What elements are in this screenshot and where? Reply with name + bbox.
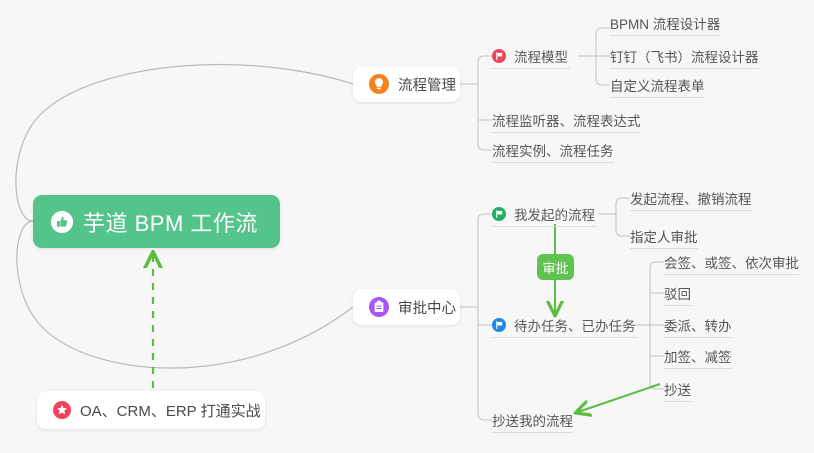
root-label: 芋道 BPM 工作流 xyxy=(83,206,258,238)
leaf-label-listener-expression: 流程监听器、流程表达式 xyxy=(492,110,641,130)
branch-node-liucheng-guanli[interactable]: 流程管理 xyxy=(353,66,460,102)
flag-icon xyxy=(492,49,506,63)
leaf-weipai-zhuanban[interactable]: 委派、转办 xyxy=(664,312,732,338)
leaf-bohui[interactable]: 驳回 xyxy=(664,280,691,306)
leaf-instance-task[interactable]: 流程实例、流程任务 xyxy=(492,137,614,163)
leaf-bpmn-designer[interactable]: BPMN 流程设计器 xyxy=(610,10,720,36)
footer-card-label: OA、CRM、ERP 打通实战 xyxy=(80,400,261,421)
clipboard-icon xyxy=(369,297,389,317)
lightbulb-icon xyxy=(369,74,389,94)
leaf-chaosong[interactable]: 抄送 xyxy=(664,376,691,402)
leaf-label-instance-task: 流程实例、流程任务 xyxy=(492,140,614,160)
leaf-custom-form[interactable]: 自定义流程表单 xyxy=(610,72,705,98)
leaf-zhiding-ren-shenpi[interactable]: 指定人审批 xyxy=(630,223,698,249)
leaf-label-faqi-chexiao: 发起流程、撤销流程 xyxy=(630,188,752,208)
leaf-label-huiqian-huoqian: 会签、或签、依次审批 xyxy=(664,252,799,272)
node-wo-faqi-de-liucheng[interactable]: 我发起的流程 xyxy=(492,201,597,227)
flag-icon xyxy=(492,207,506,221)
leaf-label-custom-form: 自定义流程表单 xyxy=(610,75,705,95)
footer-card-oa-crm-erp[interactable]: OA、CRM、ERP 打通实战 xyxy=(37,391,265,429)
flag-icon xyxy=(492,318,506,332)
leaf-label-dingtalk-designer: 钉钉（飞书）流程设计器 xyxy=(610,46,759,66)
leaf-label-chaosong-wo-de-liucheng: 抄送我的流程 xyxy=(492,410,573,430)
leaf-dingtalk-designer[interactable]: 钉钉（飞书）流程设计器 xyxy=(610,43,759,69)
node-label-wo-faqi-de-liucheng: 我发起的流程 xyxy=(514,204,595,224)
leaf-jiaqian-jianqian[interactable]: 加签、减签 xyxy=(664,343,732,369)
root-node[interactable]: 芋道 BPM 工作流 xyxy=(33,195,280,248)
node-liucheng-moxing[interactable]: 流程模型 xyxy=(492,43,570,69)
leaf-huiqian-huoqian[interactable]: 会签、或签、依次审批 xyxy=(664,249,799,275)
branch-label-liucheng-guanli: 流程管理 xyxy=(398,74,456,95)
node-label-liucheng-moxing: 流程模型 xyxy=(514,46,568,66)
leaf-listener-expression[interactable]: 流程监听器、流程表达式 xyxy=(492,107,641,133)
node-label-daiban-yiban-renwu: 待办任务、已办任务 xyxy=(514,315,636,335)
leaf-label-zhiding-ren-shenpi: 指定人审批 xyxy=(630,226,698,246)
leaf-chaosong-wo-de-liucheng[interactable]: 抄送我的流程 xyxy=(492,407,573,433)
leaf-label-bohui: 驳回 xyxy=(664,283,691,303)
annotation-shenpi-text: 审批 xyxy=(542,258,568,277)
thumbs-up-icon xyxy=(51,211,73,233)
mindmap-canvas: 芋道 BPM 工作流 流程管理 流程模型 BPMN 流程设计器 钉钉（飞书）流程… xyxy=(0,0,814,453)
branch-node-shenpi-zhongxin[interactable]: 审批中心 xyxy=(353,289,460,325)
leaf-label-weipai-zhuanban: 委派、转办 xyxy=(664,315,732,335)
star-icon xyxy=(53,401,71,419)
leaf-label-bpmn-designer: BPMN 流程设计器 xyxy=(610,13,720,33)
leaf-faqi-chexiao[interactable]: 发起流程、撤销流程 xyxy=(630,185,752,211)
node-daiban-yiban-renwu[interactable]: 待办任务、已办任务 xyxy=(492,312,638,338)
leaf-label-chaosong: 抄送 xyxy=(664,379,691,399)
branch-label-shenpi-zhongxin: 审批中心 xyxy=(398,297,456,318)
annotation-shenpi-label: 审批 xyxy=(537,254,574,280)
leaf-label-jiaqian-jianqian: 加签、减签 xyxy=(664,346,732,366)
